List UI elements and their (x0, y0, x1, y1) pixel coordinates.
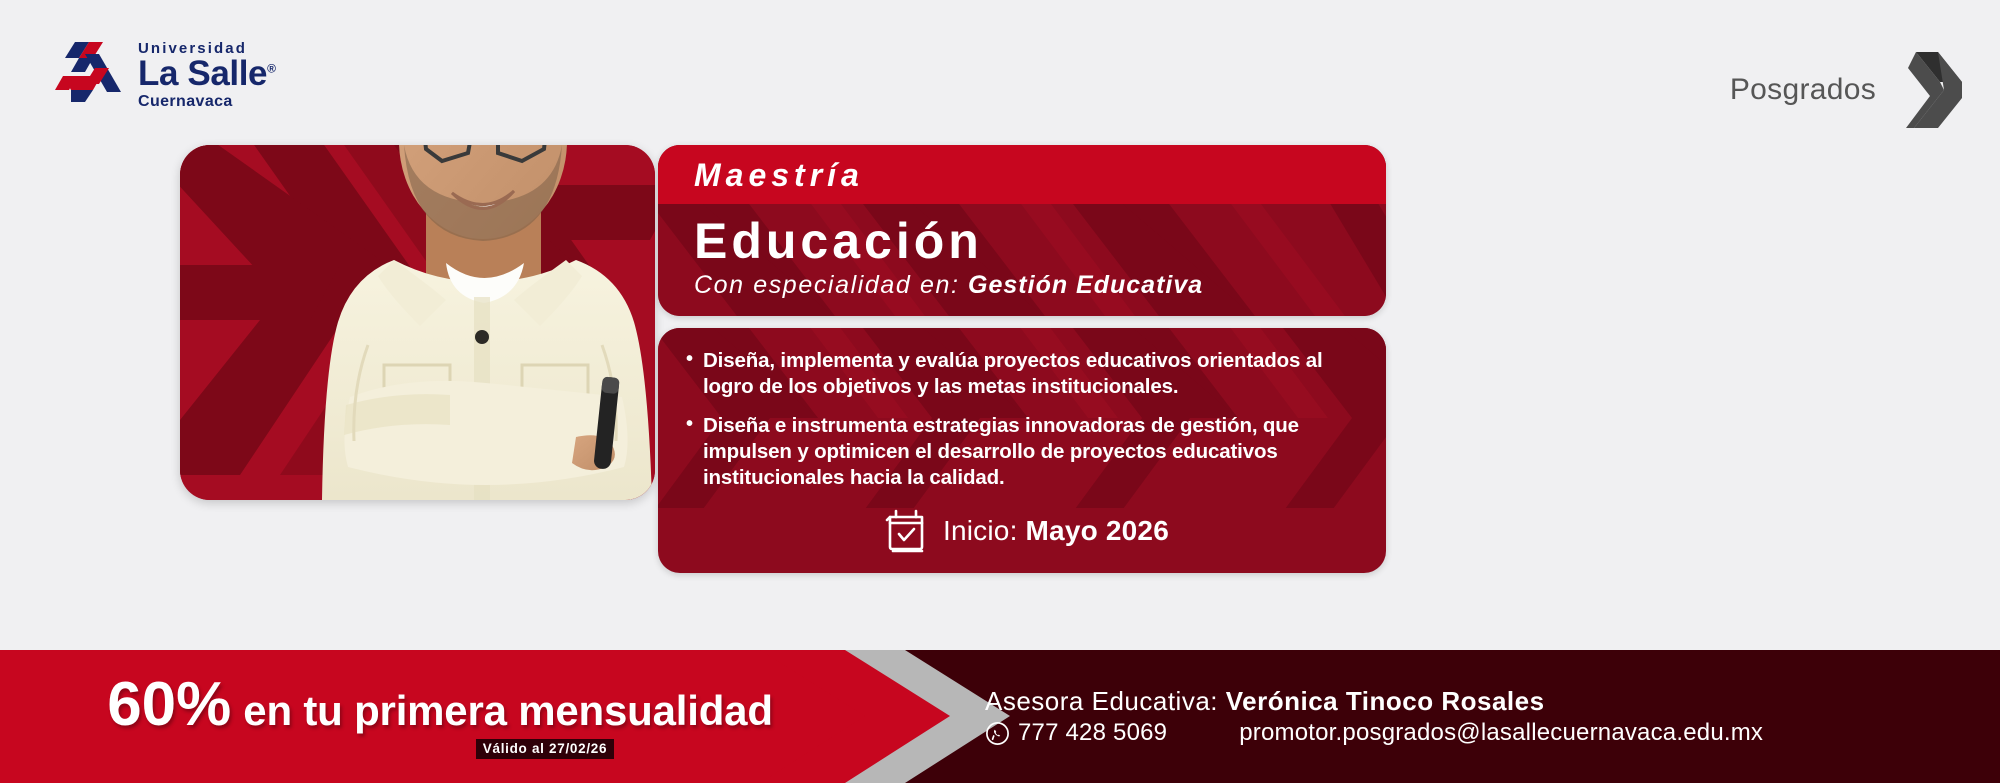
advisor-name: Verónica Tinoco Rosales (1226, 686, 1545, 716)
degree-detail: Educación Con especialidad en: Gestión E… (658, 204, 1386, 316)
posgrados-nav[interactable]: Posgrados (1730, 52, 1962, 128)
chevron-pattern-decoration (180, 145, 655, 500)
logo-name: La Salle® (138, 56, 276, 92)
program-benefits-card: Diseña, implementa y evalúa proyectos ed… (658, 328, 1386, 573)
start-date: Mayo 2026 (1026, 515, 1169, 546)
specialty-lead: Con especialidad en: (694, 271, 960, 299)
contact-block: Asesora Educativa: Verónica Tinoco Rosal… (985, 650, 1763, 783)
la-salle-logo-icon (55, 38, 127, 104)
benefits-list: Diseña, implementa y evalúa proyectos ed… (684, 348, 1368, 491)
degree-level: Maestría (694, 157, 864, 193)
degree-level-band: Maestría (658, 145, 1386, 204)
start-date-row: Inicio: Mayo 2026 (684, 507, 1368, 555)
logo-campus: Cuernavaca (138, 92, 276, 111)
banner-header: Universidad La Salle® Cuernavaca Posgrad… (0, 0, 2000, 130)
student-photo-card (180, 145, 655, 500)
whatsapp-icon (985, 721, 1010, 746)
contact-row: 777 428 5069 promotor.posgrados@lasallec… (985, 721, 1763, 746)
degree-specialty: Con especialidad en: Gestión Educativa (694, 270, 1386, 300)
advisor-line: Asesora Educativa: Verónica Tinoco Rosal… (985, 688, 1763, 714)
list-item: Diseña, implementa y evalúa proyectos ed… (684, 348, 1368, 400)
program-title-card: Maestría Educación Con especialidad en: … (658, 145, 1386, 316)
university-logo: Universidad La Salle® Cuernavaca (55, 38, 276, 112)
registered-mark: ® (267, 61, 275, 75)
start-label: Inicio: (943, 515, 1018, 546)
promo-text: en tu primera mensualidad (243, 690, 772, 732)
list-item: Diseña e instrumenta estrategias innovad… (684, 413, 1368, 491)
promotional-banner: Universidad La Salle® Cuernavaca Posgrad… (0, 0, 2000, 783)
calendar-check-icon (883, 507, 929, 555)
email-address[interactable]: promotor.posgrados@lasallecuernavaca.edu… (1239, 721, 1763, 745)
program-info-column: Maestría Educación Con especialidad en: … (658, 145, 1386, 573)
posgrados-label: Posgrados (1730, 73, 1876, 107)
promo-headline: 60% en tu primera mensualidad (107, 674, 773, 736)
start-date-text: Inicio: Mayo 2026 (943, 515, 1169, 547)
degree-name: Educación (694, 213, 1386, 269)
footer-bar: 60% en tu primera mensualidad Válido al … (0, 650, 2000, 783)
promo-percent: 60% (107, 674, 231, 736)
advisor-label: Asesora Educativa: (985, 686, 1218, 716)
promo-validity-badge: Válido al 27/02/26 (476, 739, 614, 759)
whatsapp-contact[interactable]: 777 428 5069 (985, 721, 1167, 746)
phone-number: 777 428 5069 (1018, 721, 1167, 745)
promo-discount-block: 60% en tu primera mensualidad Válido al … (0, 650, 880, 783)
chevron-right-icon (1904, 52, 1962, 128)
specialty-focus: Gestión Educativa (968, 271, 1203, 299)
